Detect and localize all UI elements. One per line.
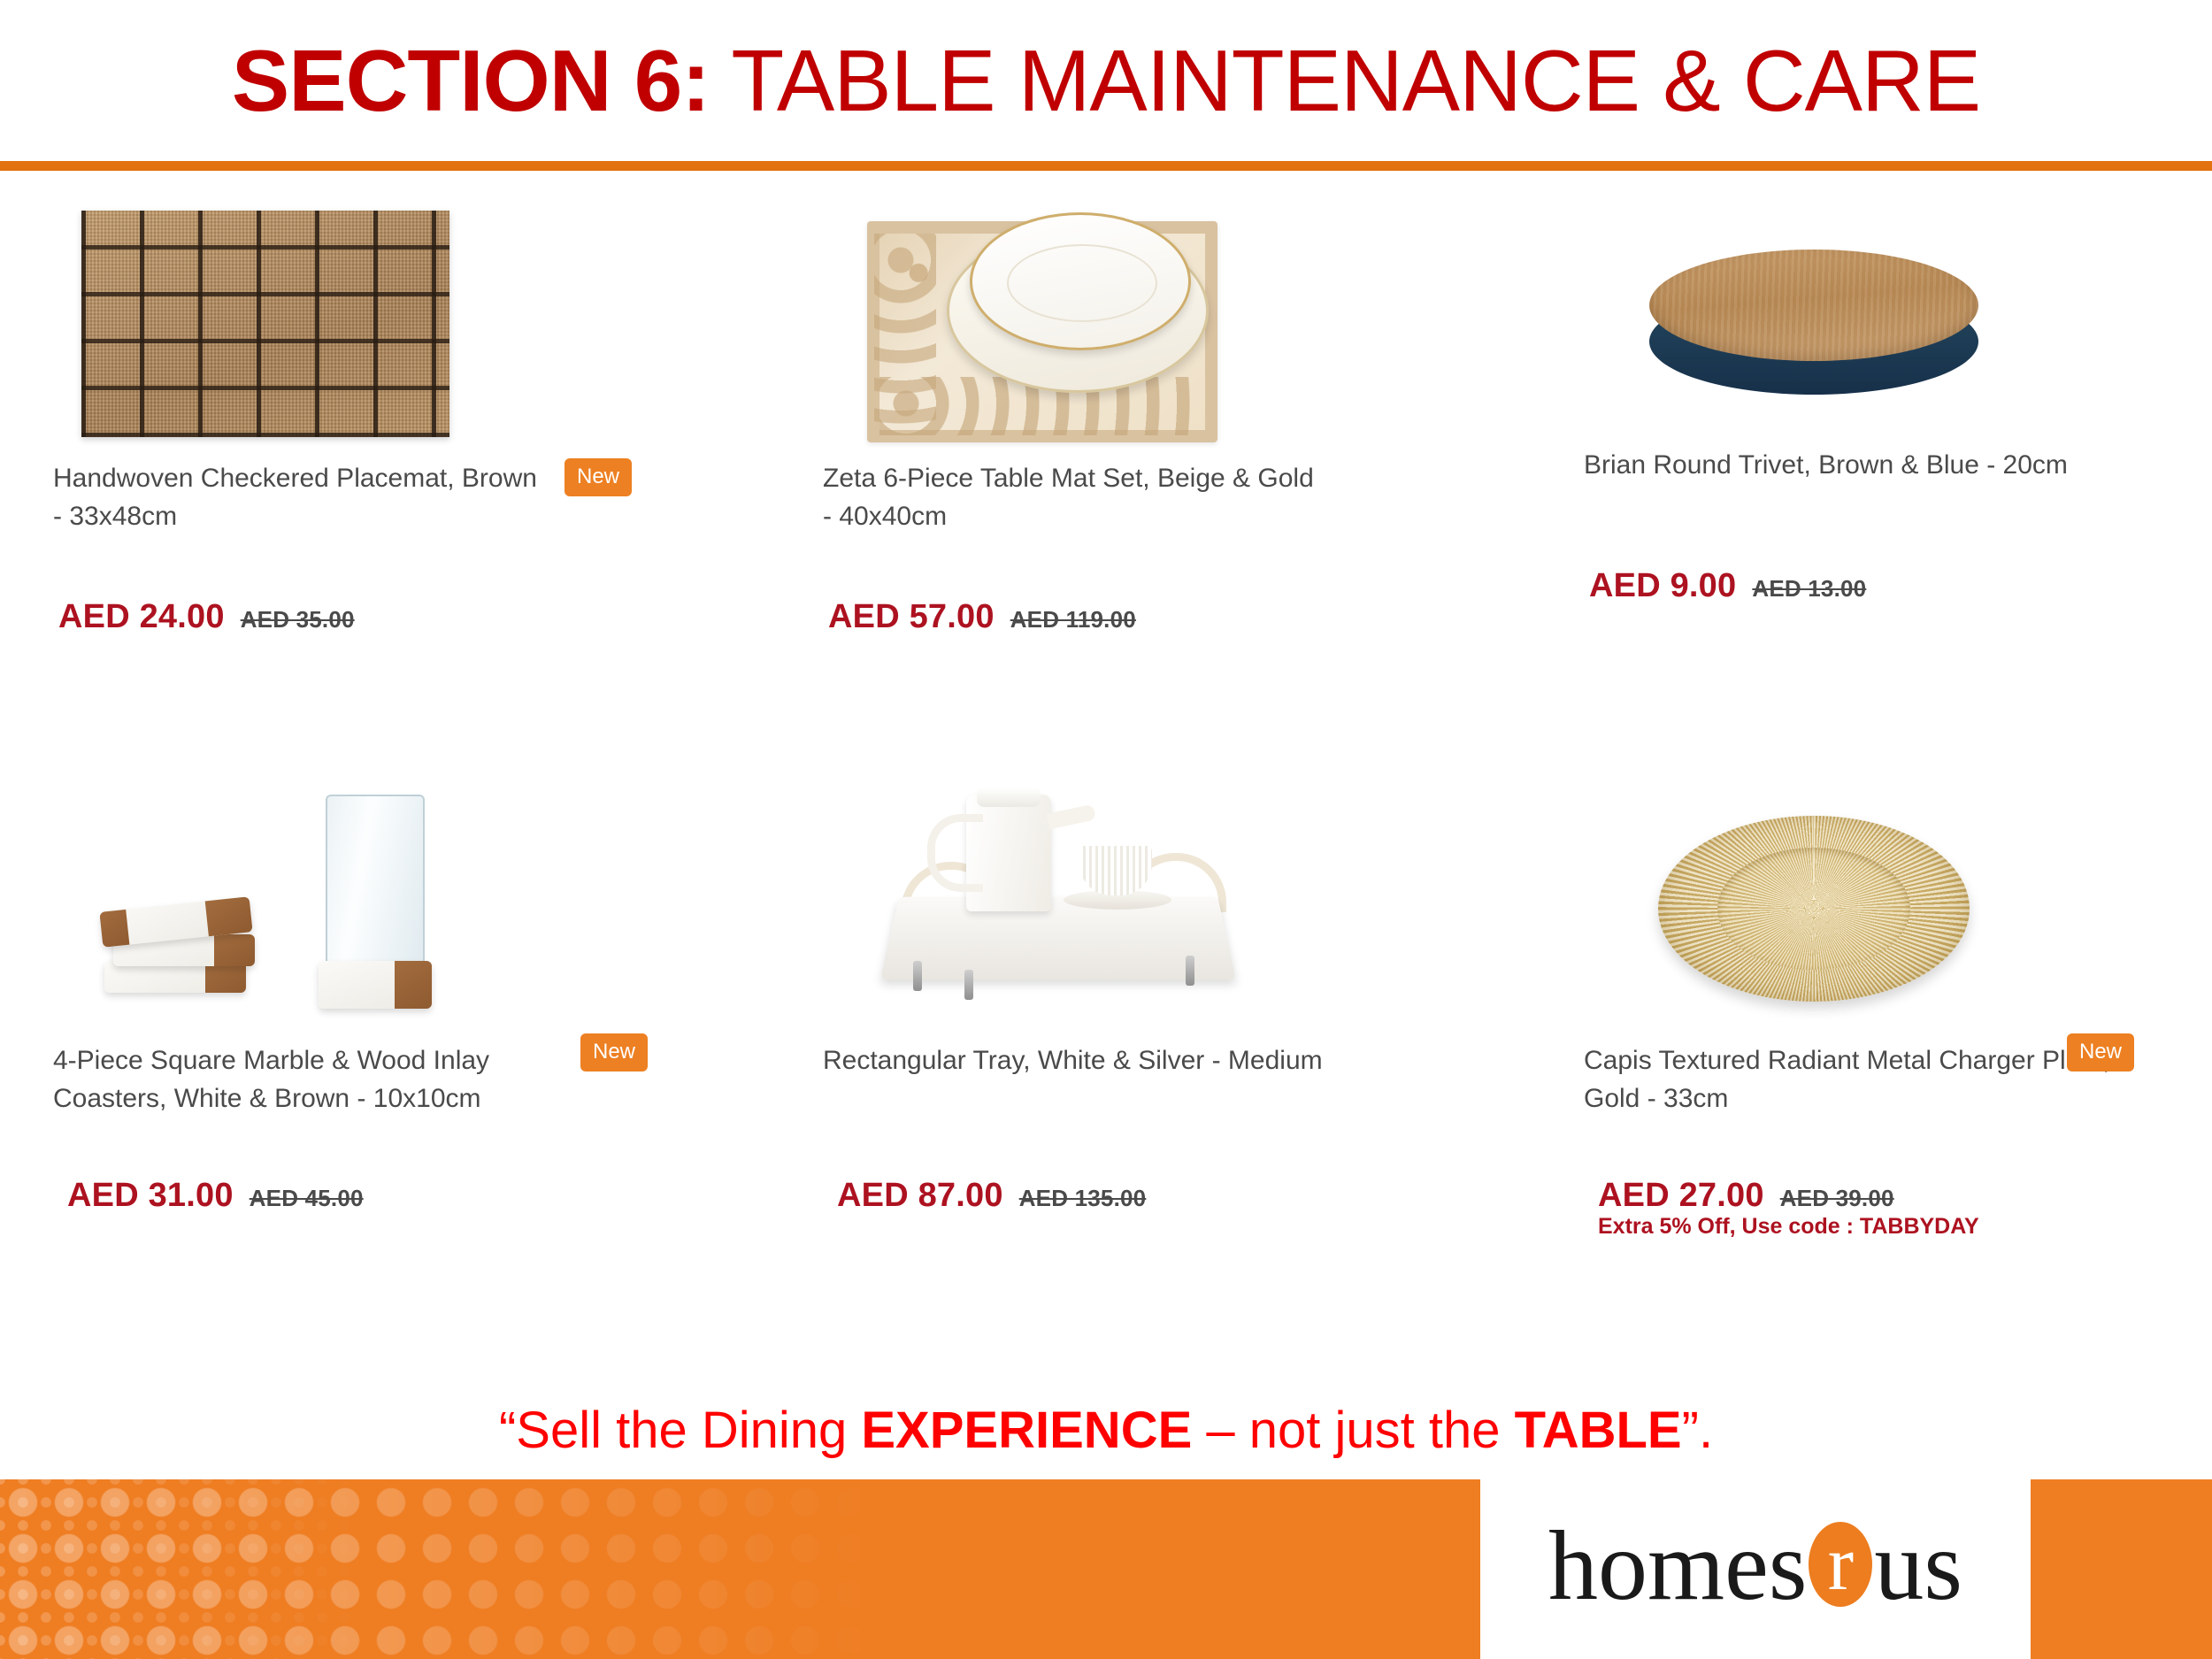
- product-info: Zeta 6-Piece Table Mat Set, Beige & Gold…: [823, 460, 1460, 535]
- product-name: 4-Piece Square Marble & Wood Inlay Coast…: [53, 1042, 584, 1118]
- product-price: AED 31.00: [67, 1177, 234, 1214]
- product-info: Brian Round Trivet, Brown & Blue - 20cm …: [1584, 447, 2203, 485]
- product-price-row: AED 27.00AED 39.00: [1598, 1177, 1894, 1215]
- tagline-part-2: – not just the: [1192, 1402, 1514, 1459]
- new-badge: New: [2067, 1033, 2134, 1071]
- product-grid: New Handwoven Checkered Placemat, Brown …: [0, 177, 2212, 1407]
- product-info: Rectangular Tray, White & Silver - Mediu…: [823, 1042, 1460, 1080]
- product-price: AED 57.00: [828, 598, 995, 635]
- product-old-price: AED 45.00: [250, 1185, 364, 1211]
- new-badge: New: [580, 1033, 648, 1071]
- product-info: New 4-Piece Square Marble & Wood Inlay C…: [53, 1042, 690, 1118]
- promo-text: Extra 5% Off, Use code : TABBYDAY: [1598, 1214, 1979, 1240]
- product-price-row: AED 57.00AED 119.00: [828, 598, 1136, 636]
- product-card[interactable]: Brian Round Trivet, Brown & Blue - 20cm …: [1584, 204, 2203, 796]
- product-info: New Handwoven Checkered Placemat, Brown …: [53, 460, 690, 535]
- product-image-rectangular-tray: [858, 787, 1256, 1026]
- product-card[interactable]: New 4-Piece Square Marble & Wood Inlay C…: [53, 787, 690, 1389]
- header-divider-rule: [0, 161, 2212, 171]
- product-name: Zeta 6-Piece Table Mat Set, Beige & Gold…: [823, 460, 1318, 535]
- product-old-price: AED 135.00: [1019, 1185, 1147, 1211]
- logo-r-circle-icon: r: [1809, 1522, 1872, 1607]
- page-title: SECTION 6: TABLE MAINTENANCE & CARE: [232, 37, 1980, 124]
- page-title-bold: SECTION 6:: [232, 32, 710, 129]
- product-price-row: AED 24.00AED 35.00: [58, 598, 355, 636]
- product-image-charger-plate: [1619, 787, 2008, 1035]
- product-name: Capis Textured Radiant Metal Charger Pla…: [1584, 1042, 2132, 1118]
- page-title-rest: TABLE MAINTENANCE & CARE: [710, 32, 1980, 129]
- product-old-price: AED 13.00: [1752, 575, 1866, 602]
- footer-dot-pattern-small: [0, 1479, 372, 1659]
- product-old-price: AED 119.00: [1010, 606, 1136, 633]
- product-card[interactable]: Rectangular Tray, White & Silver - Mediu…: [823, 787, 1460, 1389]
- product-price-row: AED 31.00AED 45.00: [67, 1177, 364, 1215]
- coaster-under-glass: [319, 961, 432, 1009]
- product-image-coasters: [97, 787, 469, 1018]
- tagline-part-3: ”.: [1682, 1402, 1713, 1459]
- product-price: AED 24.00: [58, 598, 225, 635]
- product-card[interactable]: New Capis Textured Radiant Metal Charger…: [1584, 787, 2203, 1389]
- product-old-price: AED 35.00: [241, 606, 355, 633]
- product-price: AED 27.00: [1598, 1177, 1764, 1214]
- tagline: “Sell the Dining EXPERIENCE – not just t…: [0, 1405, 2212, 1456]
- product-price: AED 87.00: [837, 1177, 1003, 1214]
- tagline-bold-table: TABLE: [1515, 1402, 1682, 1459]
- product-price: AED 9.00: [1589, 567, 1736, 604]
- product-name: Brian Round Trivet, Brown & Blue - 20cm: [1584, 447, 2132, 485]
- product-card[interactable]: Zeta 6-Piece Table Mat Set, Beige & Gold…: [823, 204, 1460, 796]
- product-card[interactable]: New Handwoven Checkered Placemat, Brown …: [53, 204, 690, 796]
- new-badge: New: [565, 458, 632, 496]
- product-price-row: AED 9.00AED 13.00: [1589, 567, 1866, 605]
- logo-text-last: us: [1874, 1517, 1962, 1616]
- footer-band: homesrus: [0, 1479, 2212, 1659]
- product-image-table-mat-set: [849, 204, 1239, 460]
- slide-header: SECTION 6: TABLE MAINTENANCE & CARE: [0, 0, 2212, 161]
- homesrus-logo: homesrus: [1548, 1517, 1962, 1616]
- tagline-part-1: “Sell the Dining: [499, 1402, 861, 1459]
- tagline-bold-experience: EXPERIENCE: [861, 1402, 1192, 1459]
- brand-logo-panel: homesrus: [1480, 1479, 2031, 1659]
- product-info: New Capis Textured Radiant Metal Charger…: [1584, 1042, 2203, 1118]
- product-name: Handwoven Checkered Placemat, Brown - 33…: [53, 460, 549, 535]
- product-name: Rectangular Tray, White & Silver - Mediu…: [823, 1042, 1371, 1080]
- product-image-trivet: [1619, 204, 2008, 451]
- product-image-placemat: [80, 204, 451, 444]
- product-old-price: AED 39.00: [1780, 1185, 1894, 1211]
- logo-text-first: homes: [1548, 1517, 1807, 1616]
- product-price-row: AED 87.00AED 135.00: [837, 1177, 1146, 1215]
